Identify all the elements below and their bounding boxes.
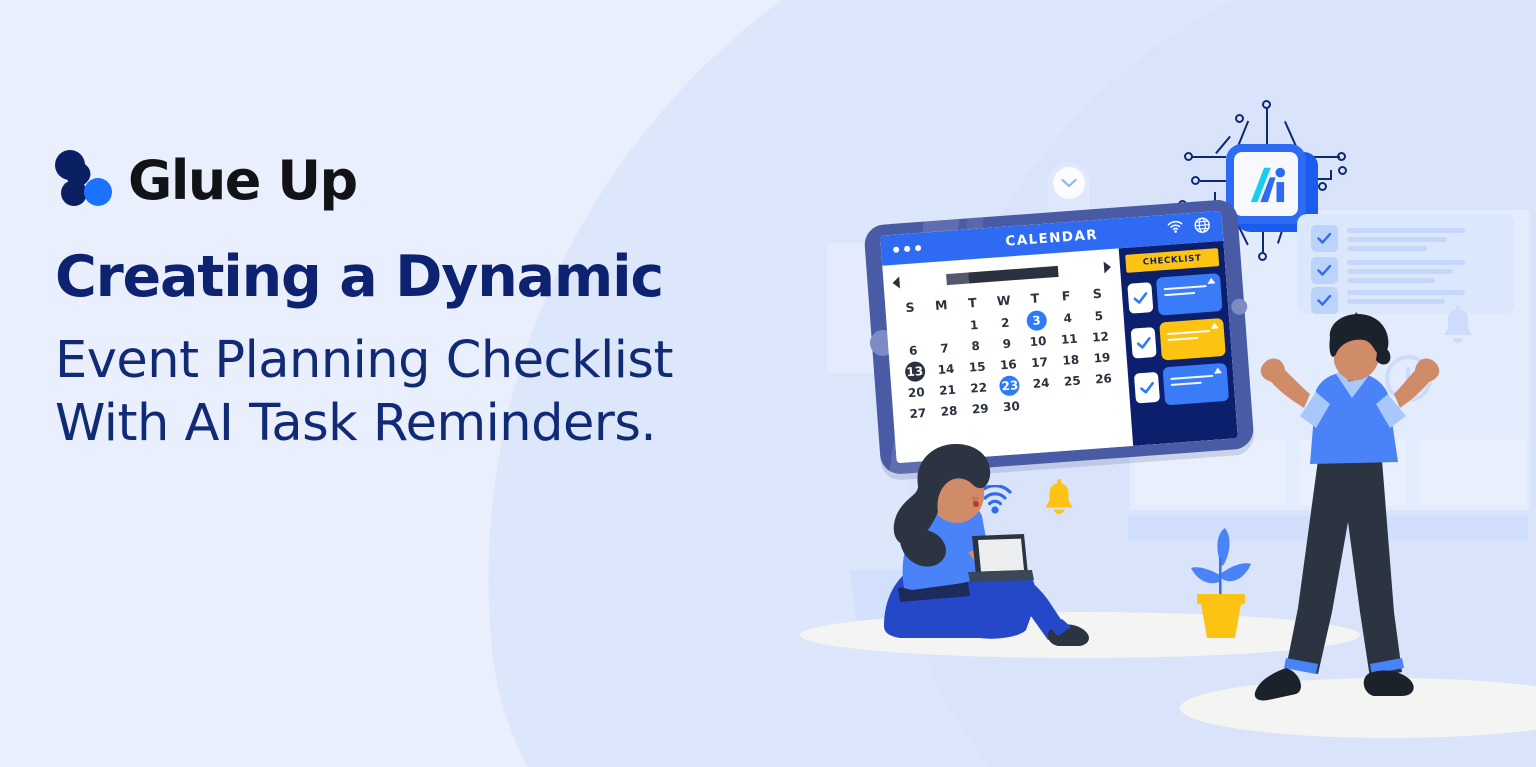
calendar-day-8[interactable]: 8 — [959, 335, 992, 357]
ai-chip-icon — [1226, 144, 1306, 224]
calendar-grid[interactable]: SMTWTFS123456789101112131415161718192021… — [894, 285, 1121, 425]
calendar-day-28[interactable]: 28 — [933, 400, 966, 422]
calendar-weekday-1: M — [925, 296, 958, 317]
checkbox-2[interactable] — [1134, 372, 1160, 404]
checklist-badge: CHECKLIST — [1125, 248, 1219, 273]
calendar-day-16[interactable]: 16 — [992, 354, 1025, 376]
checklist-item-1[interactable] — [1130, 318, 1226, 363]
banner-canvas: Glue Up Creating a Dynamic Event Plannin… — [0, 0, 1536, 767]
calendar-day-14[interactable]: 14 — [930, 358, 963, 380]
checklist-card-1[interactable] — [1159, 318, 1226, 361]
calendar-day-21[interactable]: 21 — [931, 379, 964, 401]
tablet-device: CALENDAR — [863, 199, 1254, 476]
calendar-day-18[interactable]: 18 — [1054, 349, 1087, 371]
standing-man-cheering — [1252, 312, 1452, 704]
check-icon — [1136, 336, 1152, 350]
calendar-day-20[interactable]: 20 — [900, 381, 933, 403]
calendar-day-26[interactable]: 26 — [1087, 368, 1120, 390]
calendar-day-12[interactable]: 12 — [1084, 326, 1117, 348]
calendar-weekday-2: T — [956, 294, 989, 315]
glueup-molecule-logo-icon — [54, 148, 116, 210]
seated-woman-with-laptop — [876, 440, 1106, 655]
calendar-panel: SMTWTFS123456789101112131415161718192021… — [882, 248, 1133, 463]
headline-line-2: Event Planning Checklist — [55, 330, 815, 391]
chevron-left-icon[interactable] — [892, 277, 900, 289]
calendar-weekday-4: T — [1019, 290, 1052, 311]
checklist-card-2[interactable] — [1163, 363, 1230, 406]
calendar-weekday-6: S — [1081, 285, 1114, 306]
calendar-day-9[interactable]: 9 — [991, 333, 1024, 355]
calendar-weekday-0: S — [894, 299, 927, 320]
potted-plant — [1185, 528, 1257, 638]
checklist-item-0[interactable] — [1127, 273, 1223, 318]
calendar-day-15[interactable]: 15 — [961, 356, 994, 378]
calendar-day-19[interactable]: 19 — [1086, 347, 1119, 369]
wifi-icon[interactable] — [1167, 220, 1184, 239]
checklist-card-0[interactable] — [1156, 273, 1223, 316]
calendar-day-11[interactable]: 11 — [1053, 328, 1086, 350]
calendar-day-22[interactable]: 22 — [962, 377, 995, 399]
calendar-day-24[interactable]: 24 — [1025, 372, 1058, 394]
check-icon — [1311, 287, 1338, 314]
calendar-day-25[interactable]: 25 — [1056, 370, 1089, 392]
headline-line-3: With AI Task Reminders. — [55, 393, 815, 454]
three-dots-icon[interactable] — [893, 245, 921, 253]
chevron-down-icon[interactable] — [1053, 167, 1085, 199]
brand-name: Glue Up — [128, 149, 357, 212]
chevron-right-icon[interactable] — [1104, 261, 1112, 273]
calendar-blank-cell — [895, 319, 928, 341]
check-icon — [1311, 225, 1338, 252]
checklist-rows — [1127, 273, 1229, 407]
calendar-weekday-3: W — [988, 292, 1021, 313]
calendar-day-1[interactable]: 1 — [958, 314, 991, 336]
calendar-day-2[interactable]: 2 — [989, 312, 1022, 334]
calendar-day-4[interactable]: 4 — [1051, 307, 1084, 329]
calendar-day-10[interactable]: 10 — [1022, 330, 1055, 352]
calendar-day-23[interactable]: 23 — [994, 375, 1027, 397]
tablet-screen: CALENDAR — [880, 211, 1238, 463]
calendar-day-6[interactable]: 6 — [897, 340, 930, 362]
brand-logo[interactable]: Glue Up — [54, 143, 314, 215]
check-icon — [1139, 381, 1155, 395]
calendar-weekday-5: F — [1050, 287, 1083, 308]
calendar-month-label — [946, 265, 1059, 284]
checkbox-0[interactable] — [1127, 282, 1153, 314]
headline-block: Creating a Dynamic Event Planning Checkl… — [55, 248, 815, 454]
calendar-day-13[interactable]: 13 — [898, 361, 931, 383]
check-icon — [1311, 257, 1338, 284]
checklist-item-2[interactable] — [1134, 363, 1230, 408]
calendar-day-5[interactable]: 5 — [1083, 305, 1116, 327]
check-icon — [1132, 291, 1148, 305]
headline-line-1: Creating a Dynamic — [55, 248, 815, 308]
checklist-panel: CHECKLIST — [1119, 241, 1238, 446]
globe-icon[interactable] — [1194, 216, 1211, 238]
calendar-day-17[interactable]: 17 — [1023, 351, 1056, 373]
calendar-blank-cell — [927, 316, 960, 338]
notification-checklist-card[interactable] — [1297, 214, 1515, 314]
calendar-day-30[interactable]: 30 — [995, 396, 1028, 418]
checkbox-1[interactable] — [1131, 327, 1157, 359]
calendar-day-3[interactable]: 3 — [1020, 309, 1053, 331]
calendar-day-29[interactable]: 29 — [964, 398, 997, 420]
calendar-day-27[interactable]: 27 — [902, 402, 935, 424]
calendar-day-7[interactable]: 7 — [928, 337, 961, 359]
